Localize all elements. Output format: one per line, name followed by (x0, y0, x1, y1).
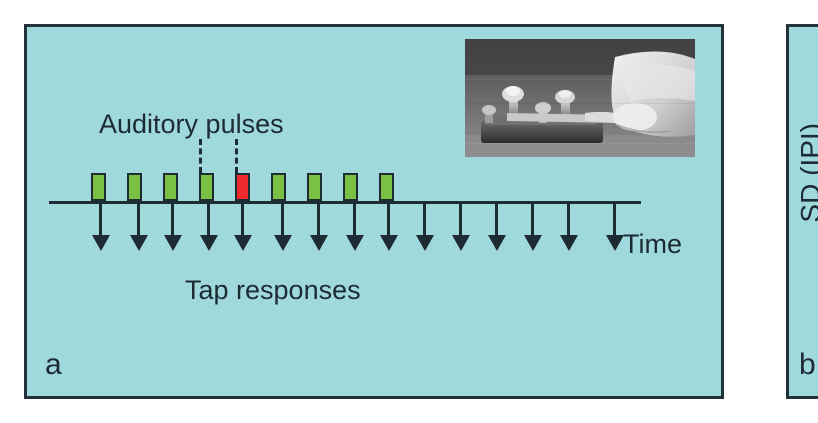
tap-response-arrow-5 (241, 203, 244, 237)
time-axis-label: Time (623, 231, 682, 258)
panel-b-letter: b (799, 350, 816, 380)
tap-responses-label: Tap responses (185, 277, 361, 304)
panel-a-letter: a (45, 350, 62, 380)
tap-response-arrow-1 (99, 203, 102, 237)
finger-tapping-telegraph-key-photo (465, 39, 695, 157)
tap-response-arrow-10 (423, 203, 426, 237)
tap-response-arrow-9 (387, 203, 390, 237)
auditory-pulse-5-perturbed (235, 173, 250, 201)
auditory-pulse-3 (163, 173, 178, 201)
auditory-pulse-6 (271, 173, 286, 201)
tap-response-arrow-12 (495, 203, 498, 237)
tap-response-arrow-11 (459, 203, 462, 237)
panel-b: SD (IPI) b (786, 24, 818, 399)
tap-response-arrow-4 (207, 203, 210, 237)
tap-response-arrow-2 (137, 203, 140, 237)
auditory-pulses-label: Auditory pulses (99, 111, 284, 138)
auditory-pulse-8 (343, 173, 358, 201)
leader-line-perturbed-pulse (235, 139, 238, 173)
tap-response-arrow-8 (353, 203, 356, 237)
auditory-pulse-4 (199, 173, 214, 201)
tap-response-arrow-3 (171, 203, 174, 237)
auditory-pulse-2 (127, 173, 142, 201)
tap-response-arrow-7 (317, 203, 320, 237)
tap-response-arrow-15 (613, 203, 616, 237)
leader-line-standard-pulse (199, 139, 202, 173)
tap-response-arrow-14 (567, 203, 570, 237)
photo-artwork (465, 39, 695, 157)
tap-response-arrow-13 (531, 203, 534, 237)
tap-response-arrow-6 (281, 203, 284, 237)
auditory-pulse-9 (379, 173, 394, 201)
auditory-pulse-1 (91, 173, 106, 201)
panel-a: Auditory pulses Time Tap responses a (24, 24, 724, 399)
auditory-pulse-7 (307, 173, 322, 201)
panel-b-y-axis-label: SD (IPI) (795, 123, 818, 223)
